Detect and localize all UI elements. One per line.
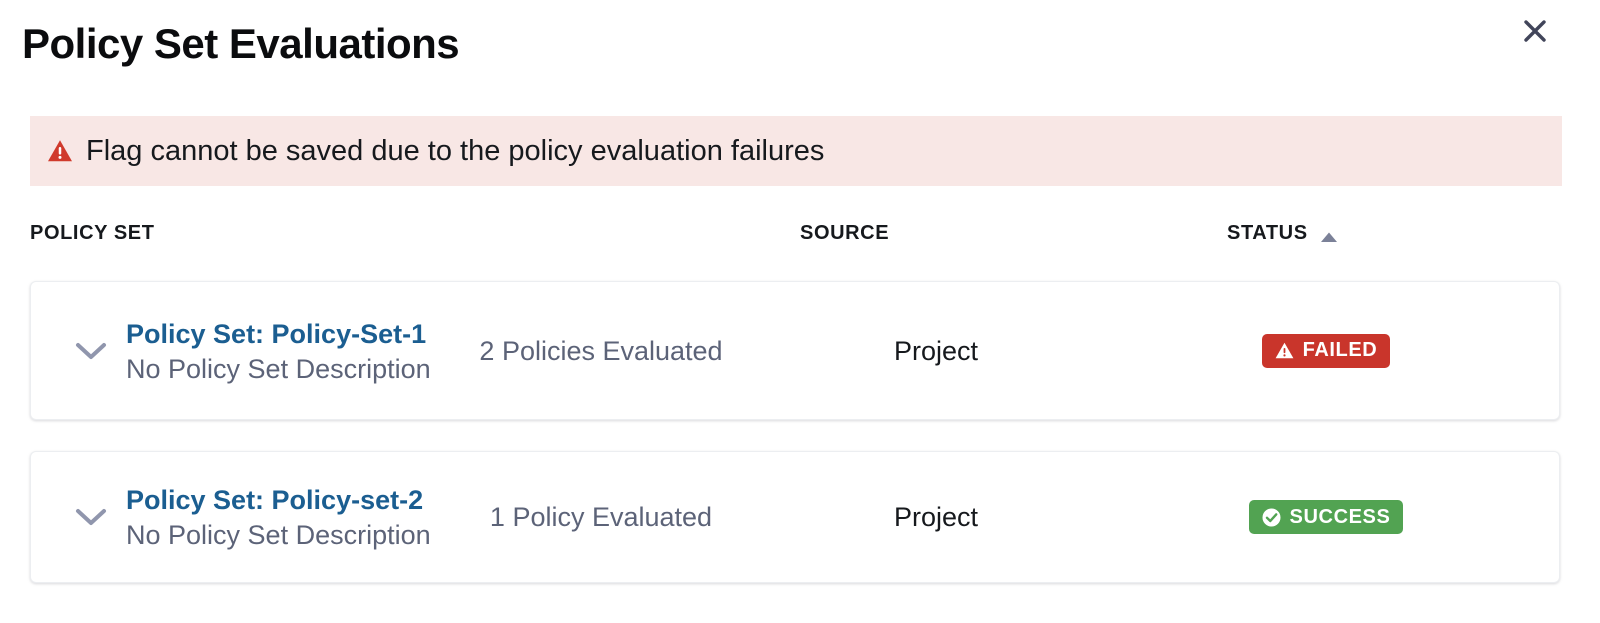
column-header-status[interactable]: STATUS <box>1227 222 1308 245</box>
chevron-down-glyph <box>74 506 108 528</box>
policy-set-description: No Policy Set Description <box>126 518 456 552</box>
policies-evaluated-count: 2 Policies Evaluated <box>451 334 751 368</box>
policy-failure-alert: Flag cannot be saved due to the policy e… <box>30 116 1562 186</box>
chevron-down-glyph <box>74 340 108 362</box>
warning-triangle-glyph <box>1275 342 1294 359</box>
status-badge-label: SUCCESS <box>1290 506 1391 529</box>
policy-set-link[interactable]: Policy Set: Policy-Set-1 <box>126 316 456 352</box>
close-icon[interactable] <box>1518 14 1552 48</box>
table-row[interactable]: Policy Set: Policy-set-2 No Policy Set D… <box>30 451 1560 583</box>
status-cell: SUCCESS <box>1191 500 1461 534</box>
chevron-down-icon[interactable] <box>71 331 111 371</box>
policy-set-description: No Policy Set Description <box>126 352 456 386</box>
table-header: POLICY SET SOURCE STATUS <box>0 218 1600 252</box>
table-row[interactable]: Policy Set: Policy-Set-1 No Policy Set D… <box>30 281 1560 420</box>
warning-triangle-icon <box>1275 341 1294 360</box>
policy-set-link[interactable]: Policy Set: Policy-set-2 <box>126 482 456 518</box>
alert-message: Flag cannot be saved due to the policy e… <box>86 134 824 168</box>
status-badge: FAILED <box>1262 334 1391 368</box>
check-circle-glyph <box>1262 508 1281 527</box>
warning-triangle-icon <box>46 137 74 165</box>
status-badge: SUCCESS <box>1249 500 1404 534</box>
close-icon-glyph <box>1522 18 1548 44</box>
triangle-up-glyph <box>1320 231 1338 243</box>
column-header-policy-set[interactable]: POLICY SET <box>30 222 155 245</box>
page-title: Policy Set Evaluations <box>22 16 459 72</box>
status-badge-label: FAILED <box>1303 339 1378 362</box>
policies-evaluated-count: 1 Policy Evaluated <box>451 500 751 534</box>
warning-triangle-glyph <box>47 139 73 163</box>
check-circle-icon <box>1262 508 1281 527</box>
policy-set-evaluations-panel: Policy Set Evaluations Flag cannot be sa… <box>0 0 1600 623</box>
source-value: Project <box>821 334 1051 368</box>
triangle-up-icon[interactable] <box>1318 228 1340 246</box>
policy-set-cell: Policy Set: Policy-set-2 No Policy Set D… <box>126 482 456 552</box>
status-cell: FAILED <box>1191 334 1461 368</box>
policy-set-cell: Policy Set: Policy-Set-1 No Policy Set D… <box>126 316 456 386</box>
column-header-source[interactable]: SOURCE <box>800 222 889 245</box>
source-value: Project <box>821 500 1051 534</box>
chevron-down-icon[interactable] <box>71 497 111 537</box>
